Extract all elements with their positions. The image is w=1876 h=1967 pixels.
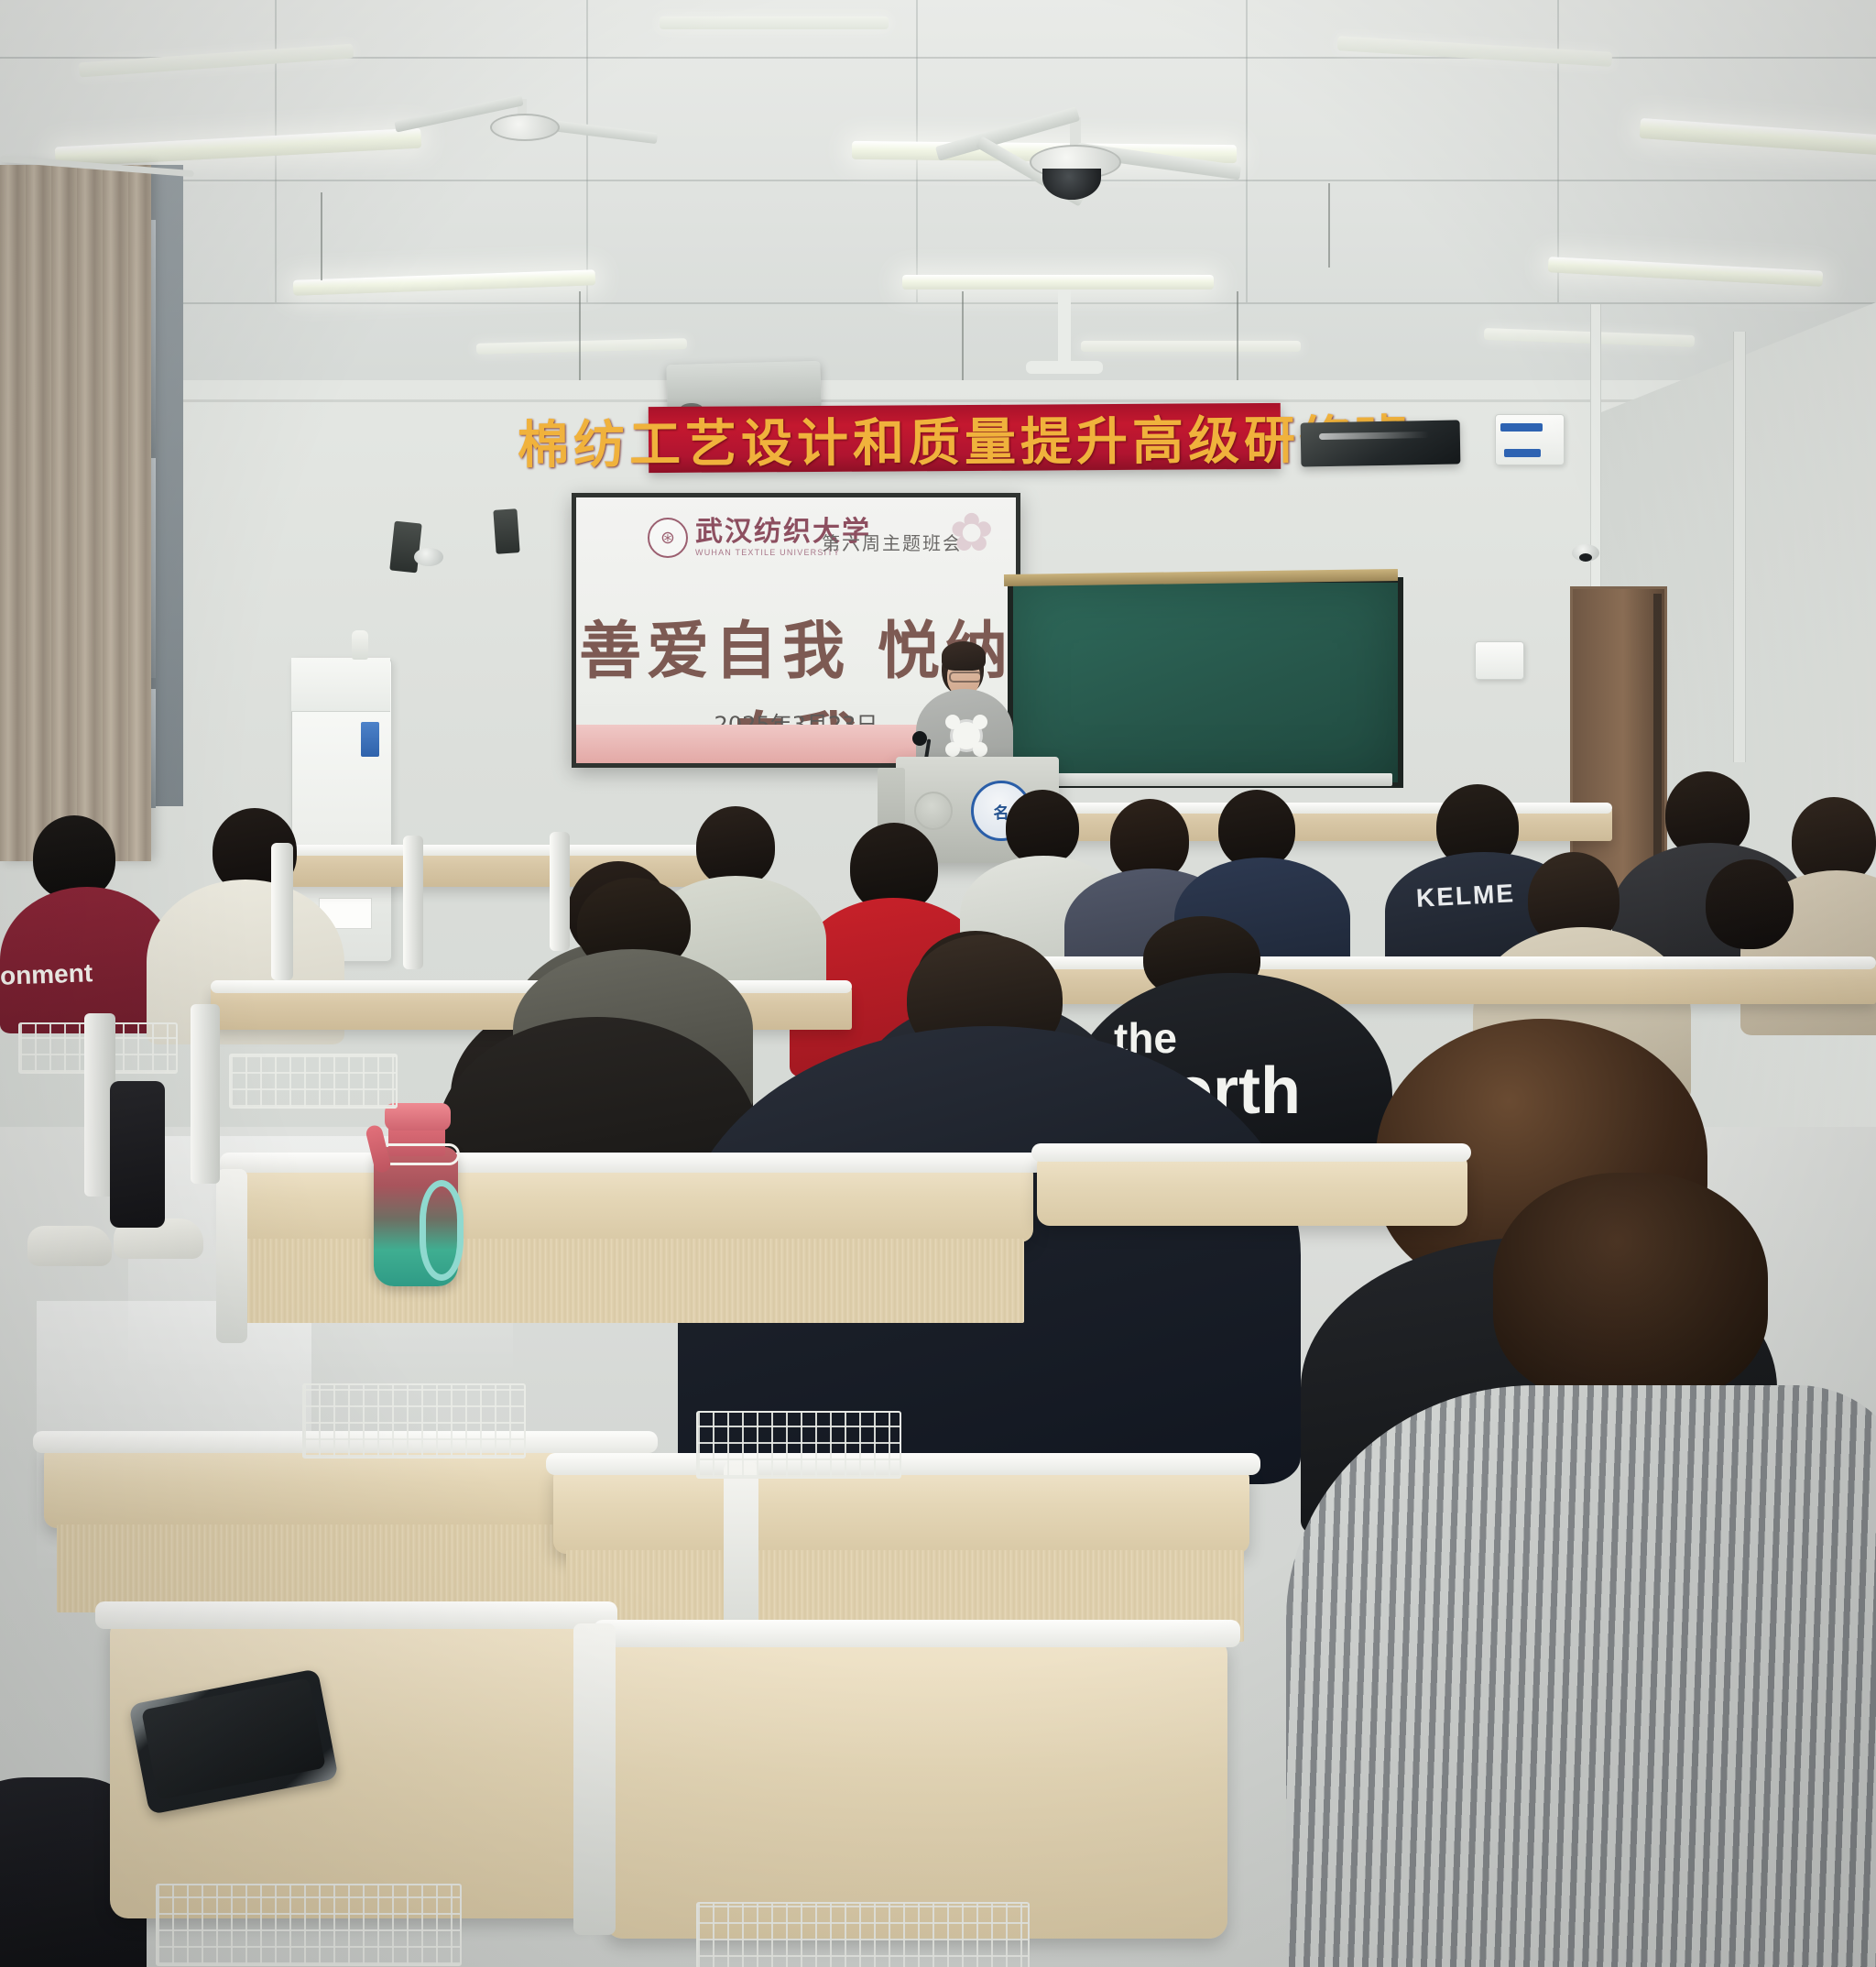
student-head xyxy=(1706,859,1794,949)
desk-edge xyxy=(275,845,751,856)
dome-camera-icon xyxy=(414,548,443,566)
classroom-photo: 棉纺工艺设计和质量提升高级研修班 ⊛ 武汉纺织大学 WUHAN TEXTILE … xyxy=(0,0,1876,1967)
desk-front-row xyxy=(227,1162,1033,1242)
hanging-wire xyxy=(321,192,322,280)
bottle-on-ac xyxy=(352,630,368,660)
ceiling-seam xyxy=(0,180,1876,181)
desk-row-far xyxy=(275,850,751,887)
chalkboard xyxy=(1008,577,1403,788)
desk-bracket xyxy=(573,1623,616,1935)
bottle-strap[interactable] xyxy=(420,1180,464,1281)
desk-basket xyxy=(229,1054,398,1109)
wall-control-box[interactable] xyxy=(1495,414,1565,465)
desk-bracket xyxy=(216,1169,247,1343)
event-banner: 棉纺工艺设计和质量提升高级研修班 xyxy=(649,403,1281,473)
desk-basket xyxy=(696,1411,901,1479)
desk-leg xyxy=(191,1004,220,1184)
ceiling-light xyxy=(902,275,1214,290)
ceiling-fan-hub xyxy=(490,114,560,141)
sweatshirt-flower-petal xyxy=(973,715,987,729)
projector-mount xyxy=(1058,290,1071,366)
sweatshirt-flower-petal xyxy=(973,742,987,757)
ceiling-seam xyxy=(1246,0,1248,302)
desk-modesty-panel xyxy=(244,1239,1024,1323)
slide-header-right: 第六周主题班会 xyxy=(822,529,963,555)
foreground-person-striped-shirt xyxy=(1286,1385,1876,1967)
sweatshirt-flower-petal xyxy=(945,742,960,757)
hanging-wire xyxy=(962,291,964,392)
window-curtain[interactable] xyxy=(0,165,151,861)
desk-edge xyxy=(546,1453,1260,1475)
desk-leg xyxy=(403,836,423,969)
desk-basket xyxy=(156,1884,462,1966)
control-box-label xyxy=(1504,449,1541,457)
ceiling-seam xyxy=(586,0,588,302)
foreground-person-hair xyxy=(1493,1173,1768,1402)
projector-mount-arm xyxy=(1026,361,1103,374)
university-seal-icon: ⊛ xyxy=(648,518,688,558)
control-box-label xyxy=(1500,423,1543,432)
desk-nearest xyxy=(605,1636,1227,1939)
banner-text: 棉纺工艺设计和质量提升高级研修班 xyxy=(518,399,1412,478)
wall-conduit xyxy=(1733,332,1746,762)
sweatshirt-flower-petal xyxy=(945,715,960,729)
desk-front-row xyxy=(1037,1153,1467,1226)
desk-edge xyxy=(594,1620,1240,1647)
wall-speaker xyxy=(493,508,519,554)
chalk-tray xyxy=(1008,773,1392,786)
desk-leg xyxy=(271,843,293,980)
student-shoe xyxy=(27,1226,112,1266)
desk-edge xyxy=(220,1153,1044,1173)
microphone-head xyxy=(912,731,927,746)
camera-lens-icon xyxy=(1579,553,1592,562)
ac-vent xyxy=(291,658,390,712)
flower-ornament-icon: ✿ xyxy=(949,507,994,560)
ceiling-light xyxy=(660,16,889,29)
student-head xyxy=(1006,790,1079,865)
student-head xyxy=(696,806,775,887)
ceiling-light xyxy=(1081,341,1301,352)
desk-edge xyxy=(95,1601,617,1629)
presenter-hair-top xyxy=(942,641,986,671)
ac-sticker xyxy=(361,722,379,757)
hoodie-text: onment xyxy=(0,958,93,991)
desk-leg xyxy=(550,832,570,951)
desk-basket xyxy=(696,1902,1030,1967)
desk-row xyxy=(553,1466,1249,1554)
door-gap xyxy=(1653,594,1662,878)
wall-panel[interactable] xyxy=(1475,641,1524,680)
kelme-logo-text: KELME xyxy=(1415,879,1516,913)
wall-conduit xyxy=(1590,304,1601,606)
desk-edge xyxy=(1031,1143,1471,1162)
hanging-wire xyxy=(1237,291,1238,394)
hanging-wire xyxy=(1328,183,1330,268)
desk-basket xyxy=(302,1383,526,1459)
podium-secondary-seal xyxy=(914,792,953,830)
wall-display xyxy=(1301,420,1461,466)
wall-speaker xyxy=(389,521,421,574)
student-leg xyxy=(110,1081,165,1228)
presenter-glasses-icon xyxy=(949,672,982,683)
